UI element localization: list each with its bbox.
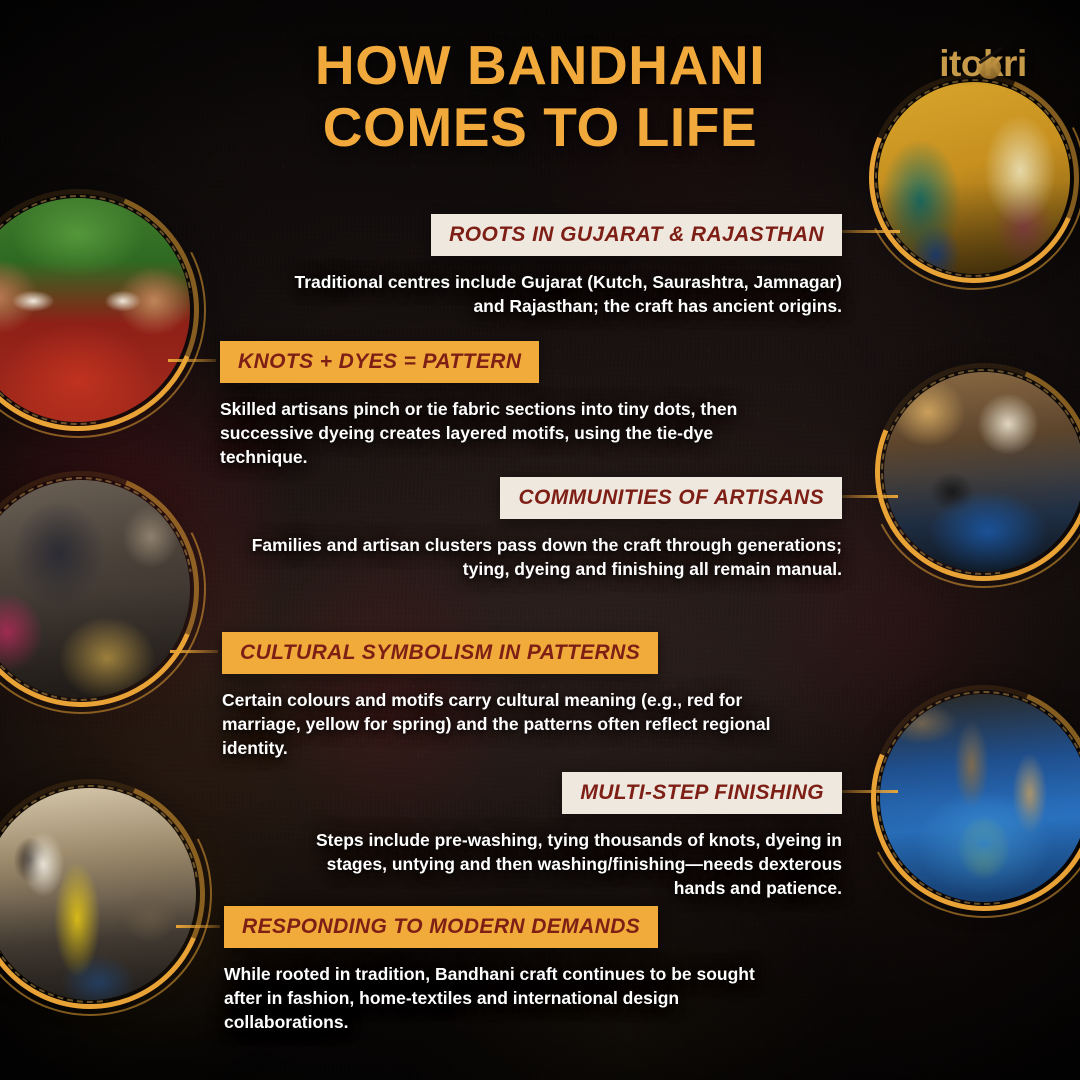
section-symbolism: CULTURAL SYMBOLISM IN PATTERNS Certain c…	[222, 632, 782, 760]
section-heading-communities[interactable]: COMMUNITIES OF ARTISANS	[500, 477, 842, 519]
section-heading-symbolism[interactable]: CULTURAL SYMBOLISM IN PATTERNS	[222, 632, 658, 674]
connector-line-knots	[168, 359, 216, 362]
photo-dyer-bench-image	[884, 372, 1080, 572]
section-body-communities: Families and artisan clusters pass down …	[250, 533, 842, 581]
section-body-modern: While rooted in tradition, Bandhani craf…	[224, 962, 790, 1034]
section-heading-finishing[interactable]: MULTI-STEP FINISHING	[562, 772, 842, 814]
connector-line-modern	[176, 925, 220, 928]
section-body-symbolism: Certain colours and motifs carry cultura…	[222, 688, 782, 760]
section-body-knots: Skilled artisans pinch or tie fabric sec…	[220, 397, 760, 469]
photo-hands-red	[0, 198, 190, 422]
photo-woman-seated	[0, 480, 190, 698]
page-title: HOW BANDHANI COMES TO LIFE	[0, 34, 1080, 158]
photo-dyer-bench	[884, 372, 1080, 572]
section-roots: ROOTS IN GUJARAT & RAJASTHAN Traditional…	[290, 214, 842, 318]
photo-dyer-skein	[0, 788, 196, 1000]
infographic-poster: HOW BANDHANI COMES TO LIFE itokri	[0, 0, 1080, 1080]
connector-line-roots	[838, 230, 900, 233]
section-knots: KNOTS + DYES = PATTERN Skilled artisans …	[220, 341, 760, 469]
section-heading-roots[interactable]: ROOTS IN GUJARAT & RAJASTHAN	[431, 214, 842, 256]
section-finishing: MULTI-STEP FINISHING Steps include pre-w…	[300, 772, 842, 900]
section-heading-modern[interactable]: RESPONDING TO MODERN DEMANDS	[224, 906, 658, 948]
photo-woman-seated-image	[0, 480, 190, 698]
title-line-2: COMES TO LIFE	[0, 96, 1080, 158]
photo-blue-vat-image	[880, 694, 1080, 902]
section-modern: RESPONDING TO MODERN DEMANDS While roote…	[224, 906, 790, 1034]
section-heading-knots[interactable]: KNOTS + DYES = PATTERN	[220, 341, 539, 383]
itokri-logo-icon[interactable]: itokri	[922, 40, 1044, 88]
photo-hands-red-image	[0, 198, 190, 422]
section-communities: COMMUNITIES OF ARTISANS Families and art…	[250, 477, 842, 581]
section-body-roots: Traditional centres include Gujarat (Kut…	[290, 270, 842, 318]
connector-line-finishing	[840, 790, 898, 793]
photo-blue-vat	[880, 694, 1080, 902]
connector-line-communities	[840, 495, 898, 498]
photo-dyer-skein-image	[0, 788, 196, 1000]
section-body-finishing: Steps include pre-washing, tying thousan…	[300, 828, 842, 900]
connector-line-symbolism	[170, 650, 218, 653]
title-line-1: HOW BANDHANI	[0, 34, 1080, 96]
